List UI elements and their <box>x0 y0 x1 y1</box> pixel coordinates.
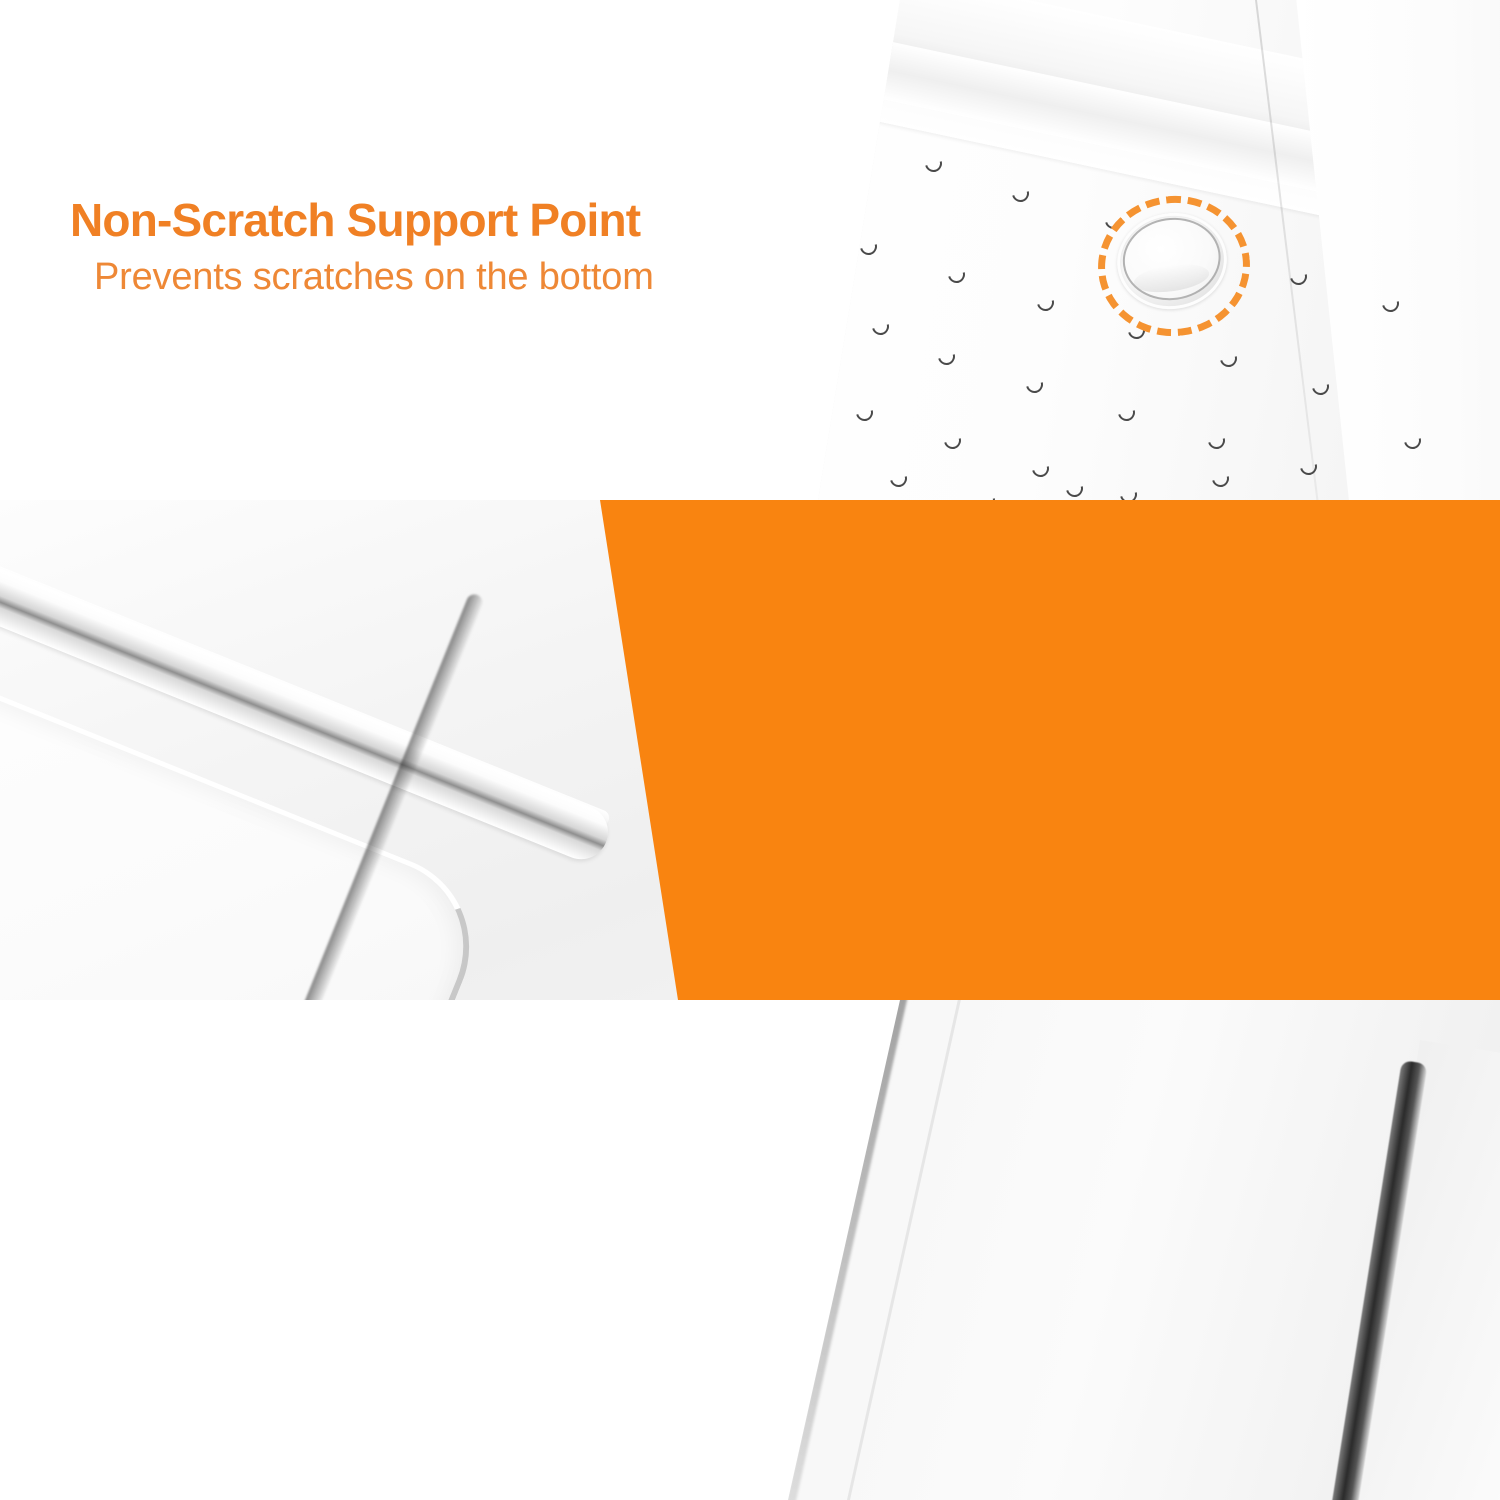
drain-tray-surface <box>0 1000 1500 1500</box>
panel-round-corner: Round Corner Design Will not scratch the… <box>0 500 1500 1000</box>
support-point-heading: Non-Scratch Support Point <box>70 196 654 244</box>
support-point-text-block: Non-Scratch Support Point Prevents scrat… <box>70 196 654 300</box>
panel-pet-plastic: PET Plastic ultra-sturdy, so will not cr… <box>0 1000 1500 1500</box>
panel-support-point: Non-Scratch Support Point Prevents scrat… <box>0 0 1500 500</box>
infographic-page: Non-Scratch Support Point Prevents scrat… <box>0 0 1500 1500</box>
support-point-subheading: Prevents scratches on the bottom <box>70 256 654 300</box>
pet-plastic-photo <box>0 1000 1500 1500</box>
